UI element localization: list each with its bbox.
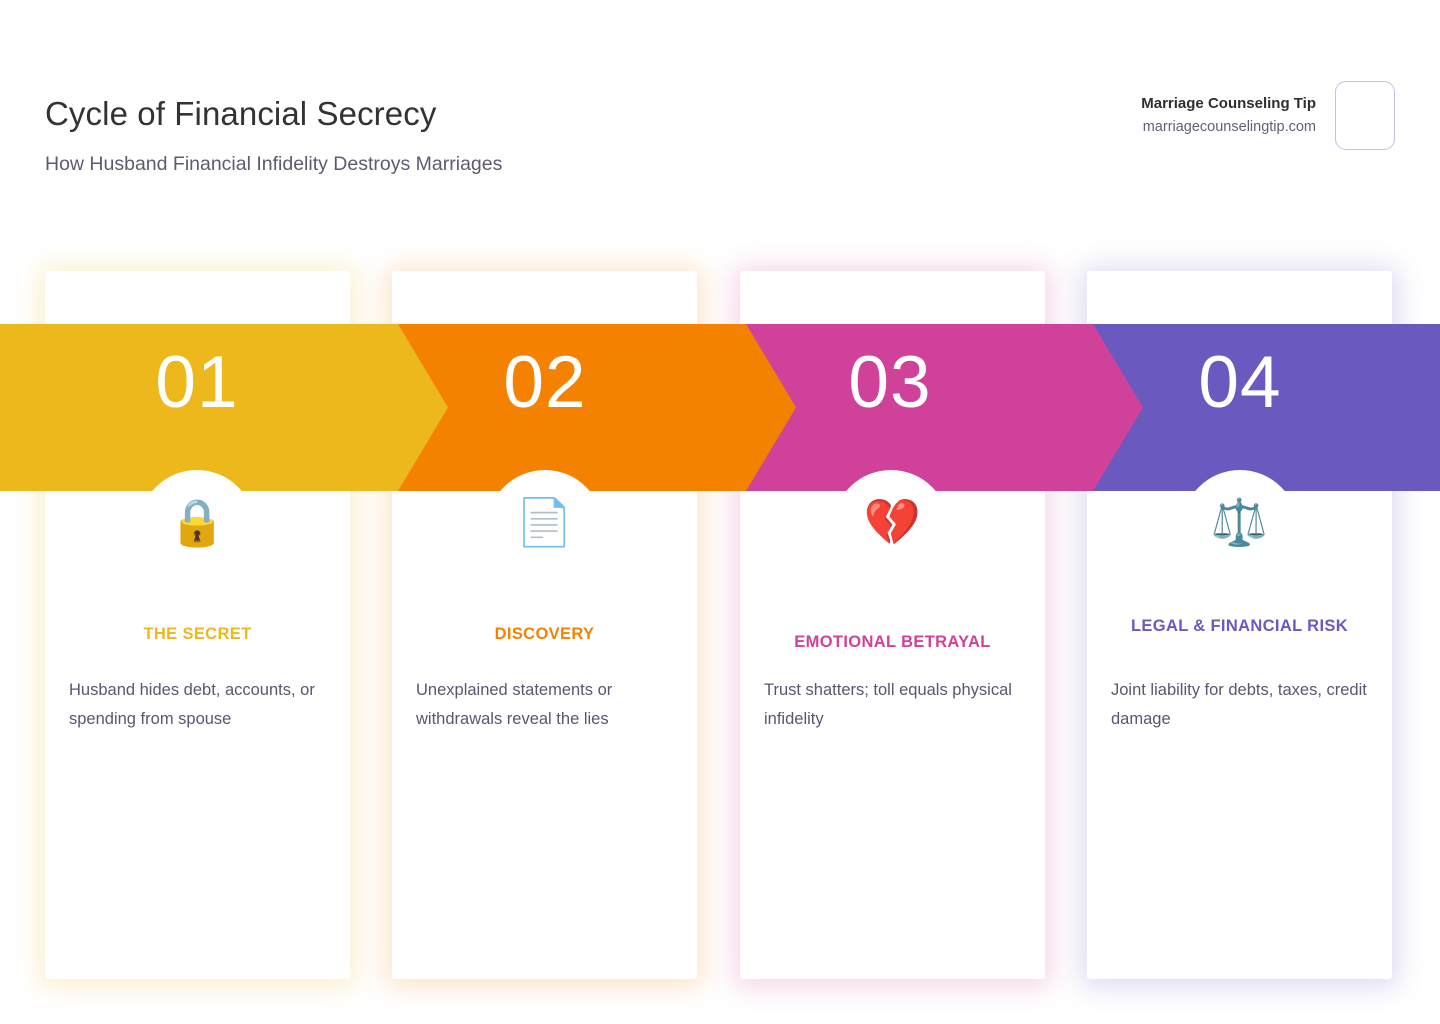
brand-logo-placeholder [1335,81,1395,150]
step-card-1-title: THE SECRET [69,623,326,647]
step-card-2[interactable]: 📄 DISCOVERY Unexplained statements or wi… [392,271,697,979]
step-card-2-title: DISCOVERY [416,623,673,647]
balance-scale-icon: ⚖️ [1087,499,1392,545]
step-card-3[interactable]: 💔 EMOTIONAL BETRAYAL Trust shatters; tol… [740,271,1045,979]
broken-heart-icon: 💔 [740,499,1045,545]
step-card-1-description: Husband hides debt, accounts, or spendin… [69,676,326,734]
step-card-3-description: Trust shatters; toll equals physical inf… [764,676,1021,734]
step-card-4-body: ⚖️ LEGAL & FINANCIAL RISK Joint liabilit… [1087,271,1392,979]
step-card-3-title: EMOTIONAL BETRAYAL [764,631,1021,655]
step-card-4-description: Joint liability for debts, taxes, credit… [1111,676,1368,734]
lock-icon: 🔒 [45,499,350,545]
step-card-3-body: 💔 EMOTIONAL BETRAYAL Trust shatters; tol… [740,271,1045,979]
brand-url: marriagecounselingtip.com [1141,118,1316,136]
step-card-4[interactable]: ⚖️ LEGAL & FINANCIAL RISK Joint liabilit… [1087,271,1392,979]
steps-container: 🔒 THE SECRET Husband hides debt, account… [0,271,1440,979]
step-card-1[interactable]: 🔒 THE SECRET Husband hides debt, account… [45,271,350,979]
step-card-1-body: 🔒 THE SECRET Husband hides debt, account… [45,271,350,979]
infographic-canvas: Cycle of Financial Secrecy How Husband F… [0,0,1440,1024]
step-card-2-body: 📄 DISCOVERY Unexplained statements or wi… [392,271,697,979]
brand-block: Marriage Counseling Tip marriagecounseli… [1141,81,1395,150]
step-card-4-title: LEGAL & FINANCIAL RISK [1111,615,1368,639]
brand-name: Marriage Counseling Tip [1141,95,1316,114]
page-title: Cycle of Financial Secrecy [45,95,436,133]
document-icon: 📄 [392,499,697,545]
step-card-2-description: Unexplained statements or withdrawals re… [416,676,673,734]
brand-text: Marriage Counseling Tip marriagecounseli… [1141,95,1316,136]
page-subtitle: How Husband Financial Infidelity Destroy… [45,153,502,176]
